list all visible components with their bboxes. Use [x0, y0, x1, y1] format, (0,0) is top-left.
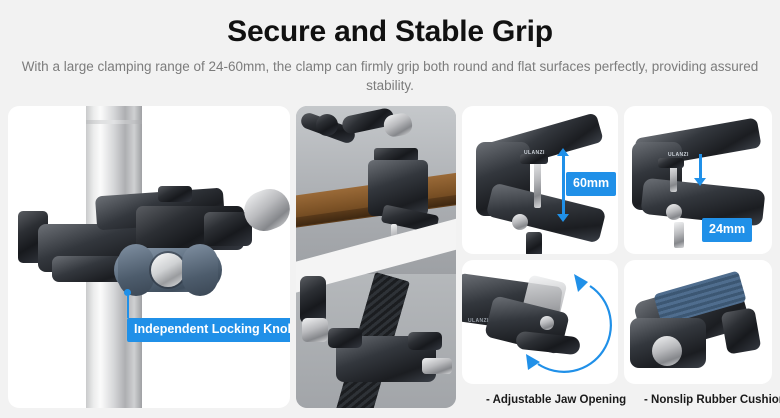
- panel-split-scene: [296, 106, 456, 408]
- bolt-head-24: [658, 158, 684, 168]
- page-title: Secure and Stable Grip: [0, 0, 780, 49]
- panel-max-opening: ULANZI 60mm: [462, 106, 618, 254]
- monitor-arm-stub: [300, 276, 326, 324]
- clamp-top-screw: [158, 186, 192, 202]
- pivot-screw-60: [512, 214, 528, 230]
- pipe-highlight: [86, 120, 142, 124]
- dimension-arrow-24: [694, 178, 706, 186]
- caption-adjustable-jaw: - Adjustable Jaw Opening: [486, 394, 626, 406]
- header: Secure and Stable Grip With a large clam…: [0, 0, 780, 104]
- product-feature-graphic: Secure and Stable Grip With a large clam…: [0, 0, 780, 418]
- dimension-arrow-bottom-60: [557, 214, 569, 222]
- pivot-screw-24: [666, 204, 682, 220]
- callout-leader-line: [127, 292, 129, 318]
- arm-joint-knob[interactable]: [316, 114, 338, 136]
- knob-center-cap: [151, 253, 185, 287]
- measure-label-24: 24mm: [702, 218, 752, 242]
- clamp-side-knob[interactable]: [328, 328, 362, 348]
- panel-adjustable-jaw: ULANZI: [462, 260, 618, 384]
- brand-mark-60: ULANZI: [524, 150, 545, 156]
- clamp-stem-60: [526, 232, 542, 254]
- dimension-line-60: [562, 154, 565, 216]
- panel-clamp-on-pipe: Independent Locking Knob: [8, 106, 290, 408]
- locking-knob[interactable]: [114, 248, 222, 292]
- clamp-stem-24: [674, 222, 684, 248]
- clamp-silver-screw: [422, 358, 452, 374]
- caption-rubber-cushion: - Nonslip Rubber Cushion: [644, 394, 780, 406]
- page-subtitle: With a large clamping range of 24-60mm, …: [0, 49, 780, 95]
- panel-rubber-cushion: [624, 260, 772, 384]
- cushion-center-screw[interactable]: [652, 336, 682, 366]
- silver-ball-lower: [302, 318, 328, 342]
- callout-locking-knob: Independent Locking Knob: [127, 318, 290, 342]
- dimension-line-24: [699, 154, 702, 180]
- cushion-tail: [721, 307, 762, 354]
- measure-label-60: 60mm: [566, 172, 616, 196]
- rotation-arrow-icon: [462, 260, 618, 384]
- brand-mark-24: ULANZI: [668, 152, 689, 158]
- clamp-arm-stub: [408, 332, 442, 350]
- panel-min-opening: ULANZI 24mm: [624, 106, 772, 254]
